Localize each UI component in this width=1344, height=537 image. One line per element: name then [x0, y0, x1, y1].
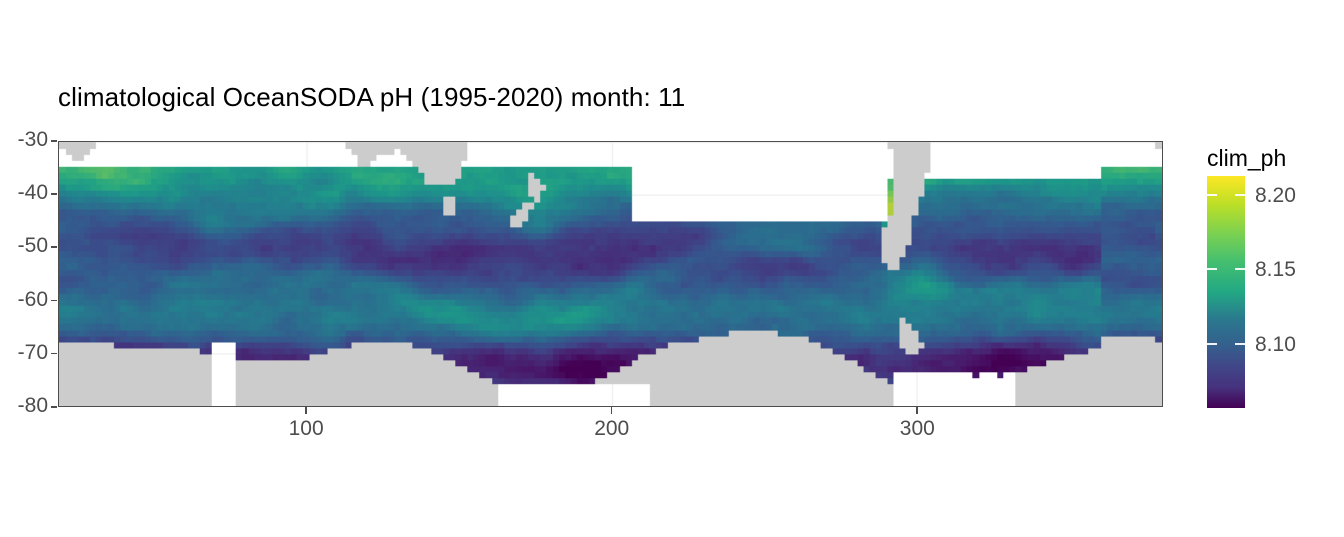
colorbar-tick-810-left: [1207, 343, 1217, 345]
page-title: climatological OceanSODA pH (1995-2020) …: [58, 82, 685, 113]
x-axis-label-300: 300: [882, 417, 952, 441]
x-axis-tick-200: [611, 407, 613, 414]
map-panel[interactable]: [58, 141, 1163, 407]
colorbar-tick-810-right: [1235, 343, 1245, 345]
y-axis-tick-neg60: [51, 300, 57, 302]
colorbar-label-810: 8.10: [1255, 333, 1296, 357]
legend-title: clim_ph: [1207, 145, 1286, 172]
colorbar: [1207, 176, 1245, 408]
x-axis-label-100: 100: [271, 417, 341, 441]
colorbar-label-820: 8.20: [1255, 184, 1296, 208]
y-axis-tick-neg70: [51, 353, 57, 355]
y-axis-label-neg40: -40: [4, 181, 48, 205]
colorbar-label-815: 8.15: [1255, 258, 1296, 282]
ph-raster-heatmap: [59, 142, 1162, 406]
colorbar-tick-815-left: [1207, 268, 1217, 270]
y-axis-label-neg60: -60: [4, 288, 48, 312]
colorbar-tick-820-left: [1207, 194, 1217, 196]
y-axis-label-neg30: -30: [4, 128, 48, 152]
y-axis-label-neg70: -70: [4, 341, 48, 365]
y-axis-label-neg50: -50: [4, 234, 48, 258]
y-axis-tick-neg80: [51, 406, 57, 408]
x-axis-tick-300: [916, 407, 918, 414]
x-axis-label-200: 200: [577, 417, 647, 441]
legend: clim_ph 8.20 8.15 8.10: [1207, 141, 1344, 421]
x-axis-tick-100: [305, 407, 307, 414]
y-axis-label-neg80: -80: [4, 394, 48, 418]
y-axis-tick-neg40: [51, 193, 57, 195]
y-axis-tick-neg30: [51, 140, 57, 142]
y-axis-tick-neg50: [51, 246, 57, 248]
colorbar-tick-815-right: [1235, 268, 1245, 270]
plot-root: climatological OceanSODA pH (1995-2020) …: [0, 0, 1344, 537]
colorbar-tick-820-right: [1235, 194, 1245, 196]
